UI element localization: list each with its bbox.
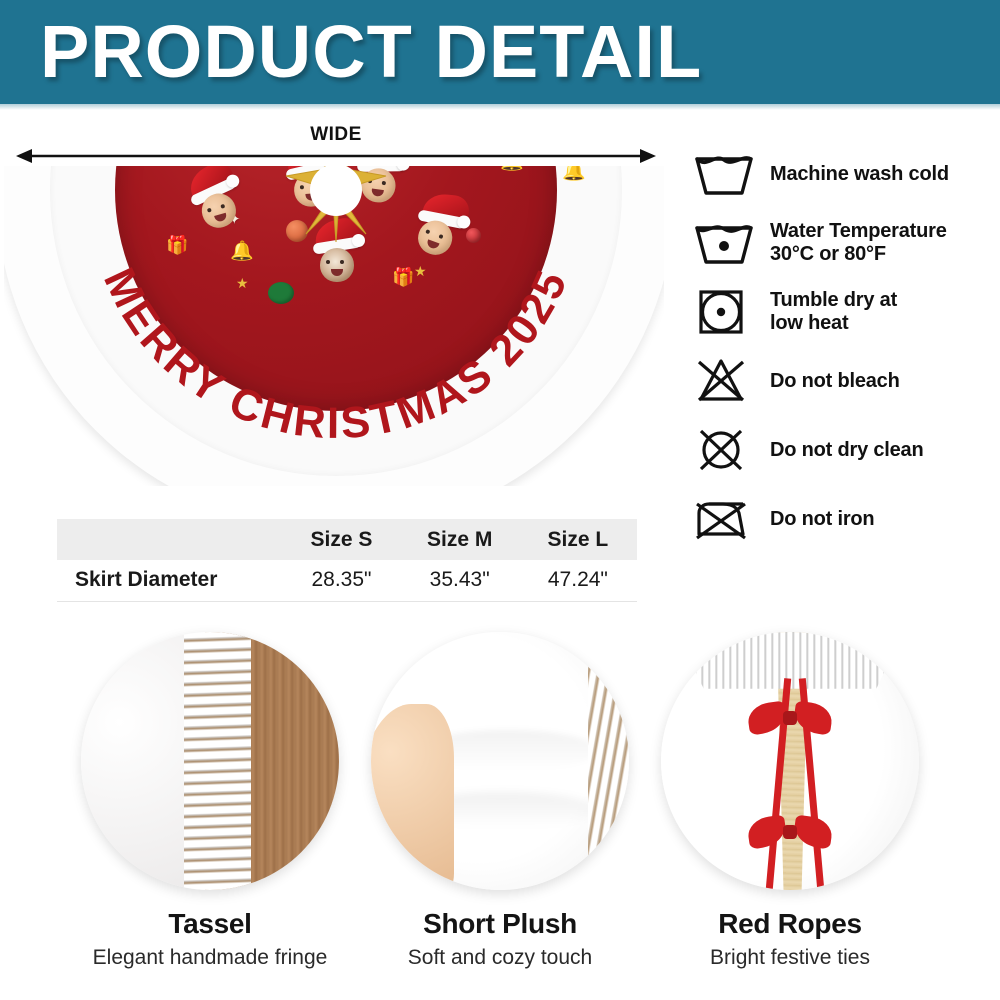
hand-icon — [371, 704, 454, 890]
care-instructions-list: Machine wash cold Water Temperature 30°C… — [692, 140, 997, 554]
feature-title-tassel: Tassel — [50, 908, 370, 940]
care-item-water-temperature: Water Temperature 30°C or 80°F — [692, 209, 997, 277]
row-label-skirt-diameter: Skirt Diameter — [57, 560, 282, 601]
tassel-fringe-detail — [184, 632, 251, 890]
feature-red-ropes: Red Ropes Bright festive ties — [630, 632, 950, 970]
care-label-do-not-dry-clean: Do not dry clean — [770, 439, 924, 462]
cell-diameter-m: 35.43" — [401, 560, 519, 601]
table-header-size-l: Size L — [519, 519, 637, 560]
table-header-row: Size S Size M Size L — [57, 519, 637, 560]
product-image: ✦ ✦ ✦ ✦ ✦ ✦ ✦ ★ ★ ★ ★ 🔔 🔔 🔔 🔔 🎁 🎁 🎁 🎁 — [4, 166, 664, 486]
feature-subtitle-red-ropes: Bright festive ties — [630, 946, 950, 970]
feature-title-red-ropes: Red Ropes — [630, 908, 950, 940]
fringe-edge — [588, 632, 629, 890]
do-not-bleach-icon — [693, 358, 755, 404]
care-item-do-not-bleach: Do not bleach — [692, 347, 997, 415]
care-label-do-not-iron: Do not iron — [770, 508, 874, 531]
cell-diameter-s: 28.35" — [282, 560, 400, 601]
table-header-size-s: Size S — [282, 519, 400, 560]
tumble-dry-low-icon — [693, 289, 755, 335]
care-label-tumble-dry: Tumble dry at low heat — [770, 289, 897, 335]
page-title: PRODUCT DETAIL — [40, 6, 970, 98]
cell-diameter-l: 47.24" — [519, 560, 637, 601]
skirt-arc-text: MERRY CHRISTMAS 2025 2025 MER — [4, 166, 664, 486]
header-shadow — [0, 104, 1000, 110]
table-header-blank — [57, 519, 282, 560]
red-bow-bottom — [748, 813, 832, 851]
feature-short-plush: Short Plush Soft and cozy touch — [340, 632, 660, 970]
table-header-size-m: Size M — [401, 519, 519, 560]
features-section: Tassel Elegant handmade fringe Short Plu… — [0, 632, 1000, 1000]
water-temp-icon — [693, 220, 755, 266]
size-table: Size S Size M Size L Skirt Diameter 28.3… — [57, 519, 637, 602]
do-not-iron-icon — [693, 496, 755, 542]
do-not-dry-clean-icon — [693, 427, 755, 473]
arc-text-merry-christmas: MERRY CHRISTMAS 2025 — [94, 261, 578, 448]
double-headed-arrow-icon — [16, 148, 656, 164]
care-item-do-not-dry-clean: Do not dry clean — [692, 416, 997, 484]
care-label-do-not-bleach: Do not bleach — [770, 370, 900, 393]
plush-closeup-image — [371, 632, 629, 890]
product-detail-page: PRODUCT DETAIL WIDE ✦ ✦ ✦ ✦ ✦ ✦ ✦ ★ ★ ★ … — [0, 0, 1000, 1000]
red-bow-top — [748, 699, 832, 737]
feature-subtitle-short-plush: Soft and cozy touch — [340, 946, 660, 970]
care-label-machine-wash: Machine wash cold — [770, 163, 949, 186]
care-label-water-temperature: Water Temperature 30°C or 80°F — [770, 220, 947, 266]
red-ropes-closeup-image — [661, 632, 919, 890]
wide-measure-label: WIDE — [0, 124, 672, 146]
feature-subtitle-tassel: Elegant handmade fringe — [50, 946, 370, 970]
care-item-do-not-iron: Do not iron — [692, 485, 997, 553]
machine-wash-icon — [693, 151, 755, 197]
tassel-closeup-image — [81, 632, 339, 890]
tree-skirt-graphic: ✦ ✦ ✦ ✦ ✦ ✦ ✦ ★ ★ ★ ★ 🔔 🔔 🔔 🔔 🎁 🎁 🎁 🎁 — [4, 166, 664, 486]
table-row: Skirt Diameter 28.35" 35.43" 47.24" — [57, 560, 637, 601]
feature-title-short-plush: Short Plush — [340, 908, 660, 940]
svg-text:MERRY CHRISTMAS 2025: MERRY CHRISTMAS 2025 — [94, 261, 578, 448]
feature-tassel: Tassel Elegant handmade fringe — [50, 632, 370, 970]
care-item-machine-wash: Machine wash cold — [692, 140, 997, 208]
care-item-tumble-dry: Tumble dry at low heat — [692, 278, 997, 346]
